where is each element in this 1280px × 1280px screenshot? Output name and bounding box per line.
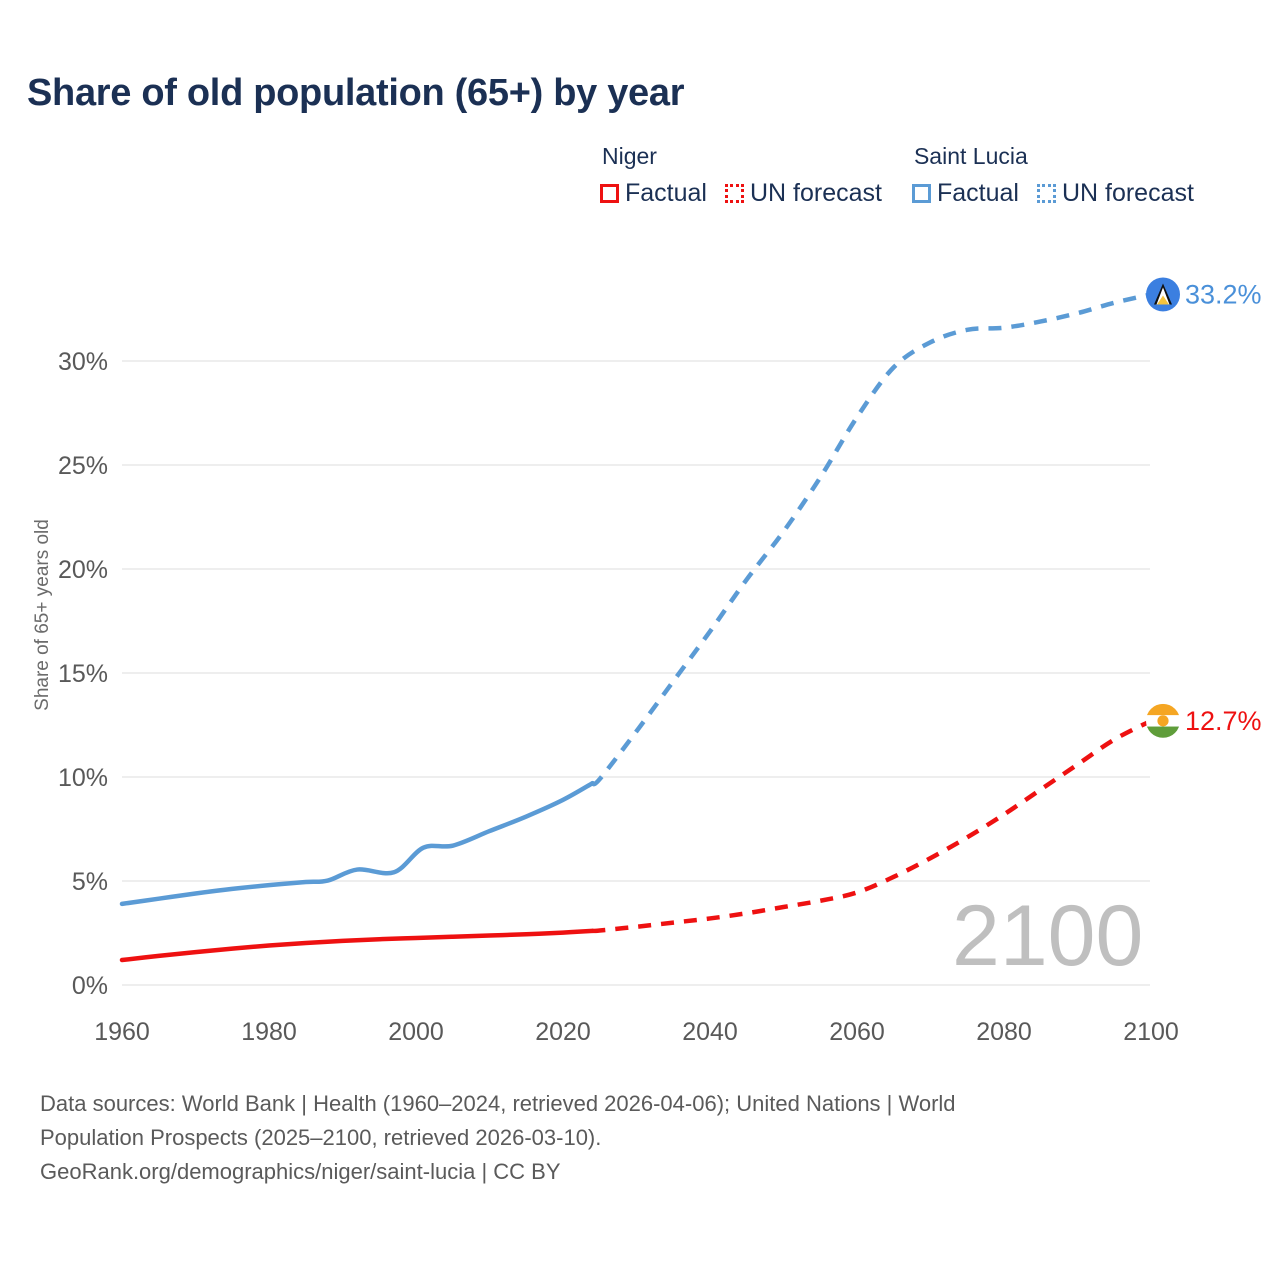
y-tick-10: 10%	[58, 764, 108, 792]
footer-line-3: GeoRank.org/demographics/niger/saint-luc…	[40, 1155, 1190, 1189]
legend-label-saint-lucia-forecast: UN forecast	[1062, 179, 1194, 208]
niger-endpoint-label: 12.7%	[1185, 706, 1262, 736]
niger-factual-line	[122, 931, 592, 960]
legend-label-saint-lucia-factual: Factual	[937, 179, 1019, 208]
y-tick-25: 25%	[58, 452, 108, 480]
x-tick-labels: 1960 1980 2000 2020 2040 2060 2080 2100	[94, 1018, 1179, 1046]
chart-legend: Niger Factual UN forecast Saint Lucia Fa…	[600, 143, 1194, 208]
x-tick-2100: 2100	[1123, 1018, 1179, 1046]
series-saint-lucia	[122, 294, 1151, 903]
x-tick-2080: 2080	[976, 1018, 1032, 1046]
legend-label-niger-forecast: UN forecast	[750, 179, 882, 208]
footer-sources: Data sources: World Bank | Health (1960–…	[40, 1087, 1190, 1189]
legend-group-title-saint-lucia: Saint Lucia	[912, 143, 1194, 170]
legend-item-saint-lucia-forecast[interactable]: UN forecast	[1037, 179, 1194, 208]
legend-swatch-dotted-red-icon	[725, 184, 744, 203]
legend-label-niger-factual: Factual	[625, 179, 707, 208]
legend-swatch-solid-blue-icon	[912, 184, 931, 203]
legend-item-niger-forecast[interactable]: UN forecast	[725, 179, 882, 208]
page-title: Share of old population (65+) by year	[27, 72, 684, 115]
saint-lucia-factual-line	[122, 783, 592, 904]
legend-group-title-niger: Niger	[600, 143, 882, 170]
x-tick-1960: 1960	[94, 1018, 150, 1046]
x-tick-2000: 2000	[388, 1018, 444, 1046]
x-tick-2040: 2040	[682, 1018, 738, 1046]
y-tick-30: 30%	[58, 348, 108, 376]
footer-line-2: Population Prospects (2025–2100, retriev…	[40, 1121, 1190, 1155]
footer-line-1: Data sources: World Bank | Health (1960–…	[40, 1087, 1190, 1121]
legend-item-saint-lucia-factual[interactable]: Factual	[912, 179, 1019, 208]
legend-item-niger-factual[interactable]: Factual	[600, 179, 707, 208]
x-tick-2020: 2020	[535, 1018, 591, 1046]
gridlines	[122, 361, 1150, 985]
saint-lucia-forecast-line	[592, 294, 1151, 784]
y-tick-labels: 0% 5% 10% 15% 20% 25% 30%	[58, 348, 108, 1000]
niger-forecast-line	[592, 721, 1151, 931]
legend-group-saint-lucia: Saint Lucia Factual UN forecast	[912, 143, 1194, 208]
year-watermark: 2100	[952, 888, 1143, 984]
x-tick-1980: 1980	[241, 1018, 297, 1046]
y-tick-0: 0%	[72, 972, 108, 1000]
niger-flag-icon[interactable]	[1146, 704, 1180, 738]
y-tick-20: 20%	[58, 556, 108, 584]
y-tick-15: 15%	[58, 660, 108, 688]
series-niger	[122, 721, 1151, 960]
legend-swatch-dotted-blue-icon	[1037, 184, 1056, 203]
x-tick-2060: 2060	[829, 1018, 885, 1046]
y-tick-5: 5%	[72, 868, 108, 896]
chart-page: Share of old population (65+) by year Ni…	[0, 0, 1280, 1280]
legend-swatch-solid-red-icon	[600, 184, 619, 203]
saint-lucia-endpoint-label: 33.2%	[1185, 279, 1262, 309]
y-axis-title: Share of 65+ years old	[32, 519, 53, 711]
saint-lucia-flag-icon[interactable]	[1146, 277, 1180, 311]
legend-group-niger: Niger Factual UN forecast	[600, 143, 882, 208]
